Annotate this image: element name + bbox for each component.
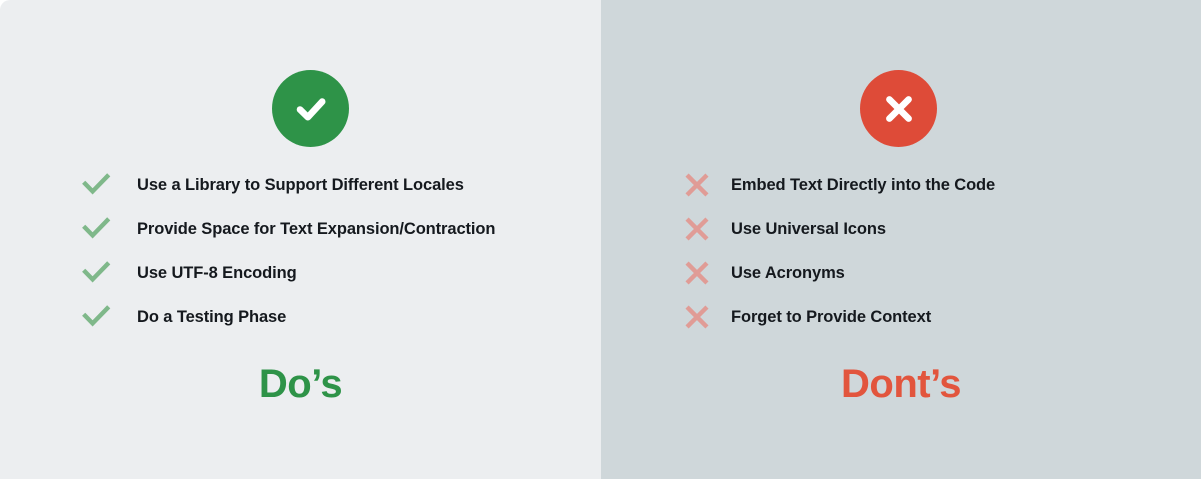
list-item-label: Use Universal Icons [731,220,886,239]
x-icon [682,302,712,332]
donts-title: Dont’s [601,360,1201,408]
x-circle-icon [860,70,937,147]
list-item: Forget to Provide Context [1,295,682,339]
list-item: Use Universal Icons [1,207,682,251]
check-circle-icon [272,70,349,147]
list-item-label: Embed Text Directly into the Code [731,176,995,195]
list-item-label: Forget to Provide Context [731,308,931,327]
x-icon [682,170,712,200]
donts-panel: Embed Text Directly into the Code Use Un… [601,0,1201,479]
donts-list: Embed Text Directly into the Code Use Un… [1,163,601,339]
dos-title: Do’s [0,360,601,408]
dos-and-donts-graphic: Use a Library to Support Different Local… [0,0,1201,479]
list-item: Embed Text Directly into the Code [1,163,682,207]
list-item-label: Use Acronyms [731,264,845,283]
x-icon [682,258,712,288]
x-icon [682,214,712,244]
list-item: Use Acronyms [1,251,682,295]
